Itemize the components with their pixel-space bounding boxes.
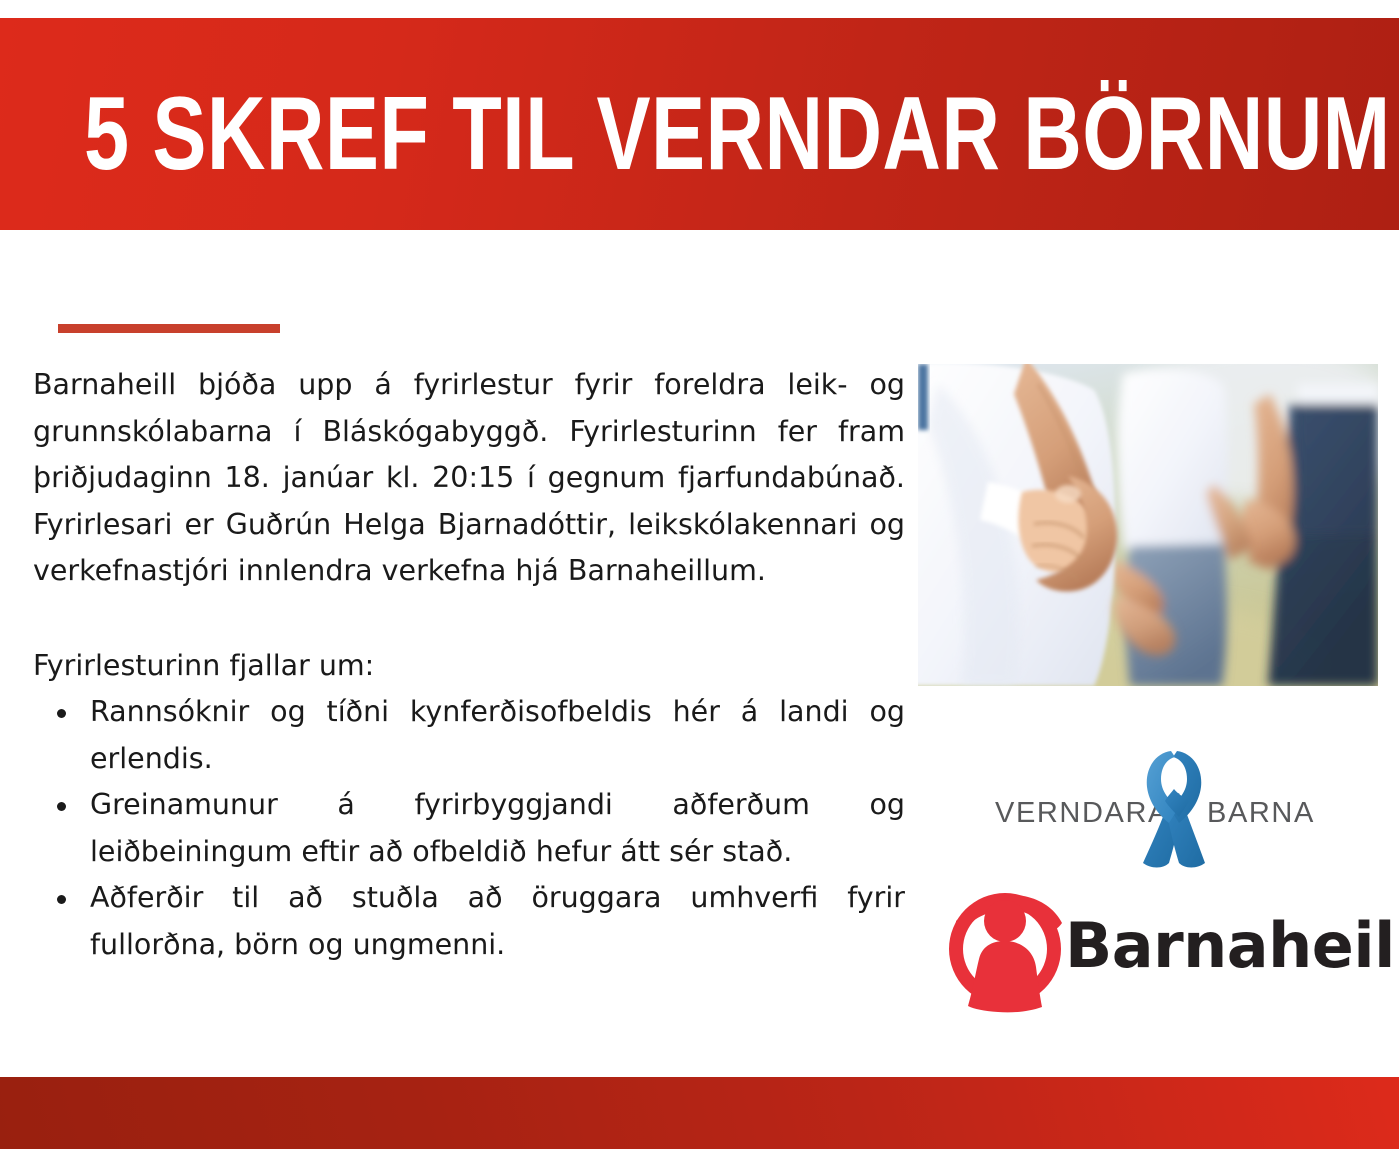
barnaheill-logo: Barnaheill [942,885,1362,1015]
page-title: 5 SKREF TIL VERNDAR BÖRNUM [84,80,1051,188]
list-item: Aðferðir til að stuðla að öruggara umhve… [33,875,905,968]
accent-bar-divider [58,324,280,333]
barna-label: BARNA [1207,797,1315,830]
awareness-ribbon-icon [1135,745,1213,870]
adults-and-children-holding-hands-photo [918,364,1378,686]
section-lead-text: Fyrirlesturinn fjallar um: [33,595,905,690]
verndarar-barna-logo: VERNDARAR BARNA [995,745,1325,870]
intro-paragraph: Barnaheill bjóða upp á fyrirlestur fyrir… [33,362,905,595]
header-banner: 5 SKREF TIL VERNDAR BÖRNUM [0,18,1399,230]
topics-bullet-list: Rannsóknir og tíðni kynferðisofbeldis hé… [33,689,905,968]
list-item: Rannsóknir og tíðni kynferðisofbeldis hé… [33,689,905,782]
footer-bar [0,1077,1399,1149]
list-item: Greinamunur á fyrirbyggjandi aðferðum og… [33,782,905,875]
barnaheill-child-mark-icon [942,885,1068,1013]
barnaheill-wordmark: Barnaheill [1065,911,1399,981]
content-text-column: Barnaheill bjóða upp á fyrirlestur fyrir… [33,362,905,968]
